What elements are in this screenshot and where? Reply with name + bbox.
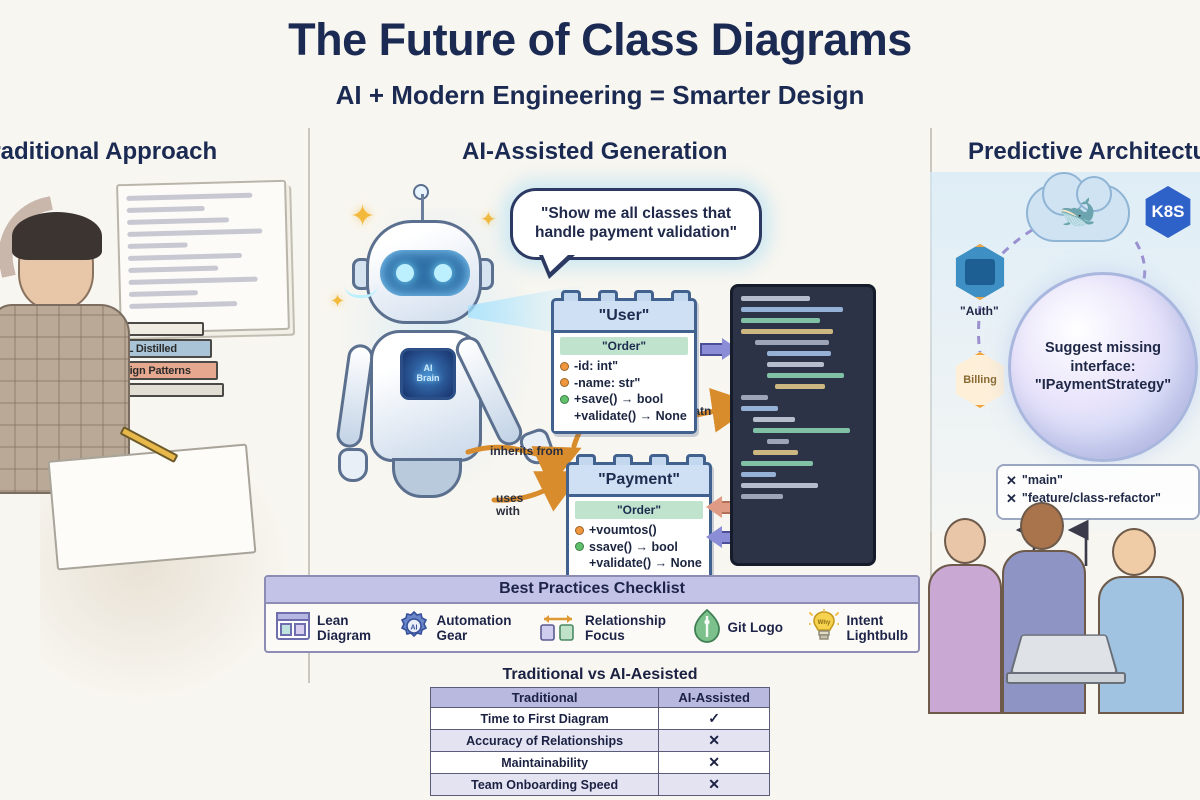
uml-stud <box>634 290 654 301</box>
label-uses-line2: with <box>496 505 523 518</box>
page-title: The Future of Class Diagrams <box>0 14 1200 66</box>
uml-member-row: -id: int" <box>560 358 688 375</box>
label-line-2: Focus <box>585 629 666 644</box>
uml-class-payment[interactable]: "Payment" "Order" +voumtos() ssave() → b… <box>566 462 712 582</box>
docker-whale-icon: 🐋 <box>1059 198 1096 228</box>
row-value: ✕ <box>659 752 770 774</box>
docker-cloud: 🐋 <box>1026 184 1130 242</box>
uml-stud <box>686 454 706 465</box>
person-head <box>944 518 986 564</box>
paper-notes-stack <box>116 180 290 334</box>
uml-studs <box>561 290 691 301</box>
row-label: Accuracy of Relationships <box>431 730 659 752</box>
panel-traditional-approach: UML Distilled Design Patterns <box>0 172 308 732</box>
hand-drawn-diagram-sheet <box>48 443 257 570</box>
row-label: Maintainability <box>431 752 659 774</box>
robot-visor <box>380 250 470 296</box>
checklist-item-label: Lean Diagram <box>317 614 371 644</box>
visibility-dot-none <box>560 411 569 420</box>
laptop-screen <box>1009 634 1118 674</box>
checklist-item-automation-gear[interactable]: AI Automation Gear <box>398 610 512 647</box>
uml-member-row: +save() → bool <box>560 391 688 408</box>
uml-studs <box>576 454 706 465</box>
page-subtitle: AI + Modern Engineering = Smarter Design <box>0 80 1200 111</box>
uml-stud <box>671 290 691 301</box>
sparkle-icon: ✦ <box>350 202 375 232</box>
label-line-1: Relationship <box>585 614 666 629</box>
node-label-auth: "Auth" <box>960 304 999 318</box>
uml-stereotype: "Order" <box>560 337 688 355</box>
uml-class-body: "Order" -id: int" -name: str" +save() → … <box>554 333 694 431</box>
person-hair <box>12 212 102 260</box>
comparison-table: Traditional AI-Assisted Time to First Di… <box>430 687 770 796</box>
row-label: Team Onboarding Speed <box>431 774 659 796</box>
chest-label-bottom: Brain <box>416 374 439 384</box>
branch-marker-icon: ✕ <box>1006 472 1017 490</box>
table-header-row: Traditional AI-Assisted <box>431 688 770 708</box>
column-header-predictive: Predictive Architecture <box>968 138 1200 166</box>
row-value: ✕ <box>659 774 770 796</box>
table-row: Accuracy of Relationships ✕ <box>431 730 770 752</box>
table-row: Time to First Diagram ✓ <box>431 708 770 730</box>
column-header-ai-assisted: AI-Assisted Generation <box>462 138 727 166</box>
robot-eye-left <box>396 264 414 282</box>
person-head <box>1020 502 1064 550</box>
uml-class-name: "Payment" <box>569 465 709 497</box>
checklist-title: Best Practices Checklist <box>266 577 918 604</box>
checklist-item-label: Git Logo <box>728 621 783 636</box>
best-practices-checklist: Best Practices Checklist Lean Diagram <box>264 575 920 653</box>
uml-stud <box>613 454 633 465</box>
label-line-1: Lean <box>317 614 371 629</box>
lean-diagram-icon <box>276 612 310 645</box>
label-uses-with: uses with <box>496 492 523 517</box>
team-illustration <box>930 492 1200 732</box>
uml-stud <box>561 290 581 301</box>
row-label: Time to First Diagram <box>431 708 659 730</box>
row-value: ✕ <box>659 730 770 752</box>
table-row: Maintainability ✕ <box>431 752 770 774</box>
label-line-2: Gear <box>437 629 512 644</box>
visibility-dot-private <box>575 526 584 535</box>
comparison-table-wrap: Traditional vs AI-Aesisted Traditional A… <box>430 666 770 796</box>
crystal-ball: Suggest missing interface: "IPaymentStra… <box>1008 272 1198 462</box>
table-header-ai-assisted: AI-Assisted <box>659 688 770 708</box>
sparkle-icon: ✦ <box>480 210 497 230</box>
label-line-1: Automation <box>437 614 512 629</box>
svg-text:Why: Why <box>818 620 831 626</box>
visibility-dot-public <box>575 542 584 551</box>
uml-stud <box>649 454 669 465</box>
label-line-1: Intent <box>846 614 907 629</box>
checklist-item-intent-lightbulb[interactable]: Why Intent Lightbulb <box>809 609 907 648</box>
uml-member-row: -name: str" <box>560 375 688 392</box>
robot-legs <box>392 458 462 498</box>
branch-name: "main" <box>1022 472 1063 489</box>
uml-member-row: ssave() → bool <box>575 539 703 556</box>
uml-stereotype: "Order" <box>575 501 703 519</box>
uml-member-text: +validate() → None <box>574 408 687 425</box>
robot-eye-right <box>434 264 452 282</box>
table-body: Time to First Diagram ✓ Accuracy of Rela… <box>431 708 770 796</box>
infographic-canvas: The Future of Class Diagrams AI + Modern… <box>0 0 1200 800</box>
uml-member-row: +validate() → None <box>560 408 688 425</box>
svg-text:AI: AI <box>410 625 417 632</box>
visibility-dot-public <box>560 395 569 404</box>
uml-member-text: +save() → bool <box>574 391 663 408</box>
panel-predictive-architecture: 🐋 K8S "Auth" Billing Suggest missing int… <box>930 172 1200 732</box>
label-inherits-from: inherits from <box>490 444 563 458</box>
uml-member-text: -id: int" <box>574 358 618 375</box>
column-header-traditional: Traditional Approach <box>0 138 217 166</box>
uml-member-row: +validate() → None <box>575 555 703 572</box>
checklist-item-git-logo[interactable]: Git Logo <box>693 609 783 648</box>
label-uses-line1: uses <box>496 492 523 505</box>
person-torso <box>928 564 1002 714</box>
checklist-item-lean-diagram[interactable]: Lean Diagram <box>276 612 371 645</box>
crystal-ball-text: Suggest missing interface: "IPaymentStra… <box>1011 339 1195 396</box>
checklist-item-label: Intent Lightbulb <box>846 614 907 644</box>
comparison-table-title: Traditional vs AI-Aesisted <box>430 666 770 684</box>
visibility-dot-private <box>560 362 569 371</box>
git-logo-icon <box>693 609 721 648</box>
checklist-item-label: Automation Gear <box>437 614 512 644</box>
branch-row-main: ✕ "main" <box>1006 472 1190 490</box>
relationship-focus-icon <box>538 610 578 647</box>
checklist-item-relationship-focus[interactable]: Relationship Focus <box>538 610 666 647</box>
label-line-2: Lightbulb <box>846 629 907 644</box>
table-row: Team Onboarding Speed ✕ <box>431 774 770 796</box>
row-value: ✓ <box>659 708 770 730</box>
uml-class-name: "User" <box>554 301 694 333</box>
code-editor-panel <box>730 284 876 566</box>
uml-member-text: -name: str" <box>574 375 640 392</box>
uml-member-text: +voumtos() <box>589 522 657 539</box>
robot-ai-brain-icon: AI Brain <box>400 348 456 400</box>
robot-antenna-stem <box>421 194 424 222</box>
person-head <box>1112 528 1156 576</box>
uml-member-text: +validate() → None <box>589 555 702 572</box>
uml-stud <box>598 290 618 301</box>
person-torso <box>1098 576 1184 714</box>
prompt-speech-bubble: "Show me all classes that handle payment… <box>510 188 762 260</box>
visibility-dot-private <box>560 378 569 387</box>
automation-gear-icon: AI <box>398 610 430 647</box>
uml-member-text: ssave() → bool <box>589 539 678 556</box>
table-header-traditional: Traditional <box>431 688 659 708</box>
label-line-2: Diagram <box>317 629 371 644</box>
label-line-1: Git Logo <box>728 621 783 636</box>
person-torso <box>1002 550 1086 714</box>
table-head: Traditional AI-Assisted <box>431 688 770 708</box>
checklist-items: Lean Diagram AI Automation Gear <box>266 604 918 648</box>
checklist-item-label: Relationship Focus <box>585 614 666 644</box>
uml-class-user[interactable]: "User" "Order" -id: int" -name: str" +sa… <box>551 298 697 434</box>
robot-hand-left <box>338 448 368 482</box>
uml-stud <box>576 454 596 465</box>
sparkle-icon: ✦ <box>330 292 345 310</box>
uml-class-body: "Order" +voumtos() ssave() → bool +valid… <box>569 497 709 579</box>
laptop-base <box>1006 672 1126 684</box>
uml-member-row: +voumtos() <box>575 522 703 539</box>
container-icon <box>965 259 995 285</box>
intent-lightbulb-icon: Why <box>809 609 839 648</box>
visibility-dot-none <box>575 559 584 568</box>
